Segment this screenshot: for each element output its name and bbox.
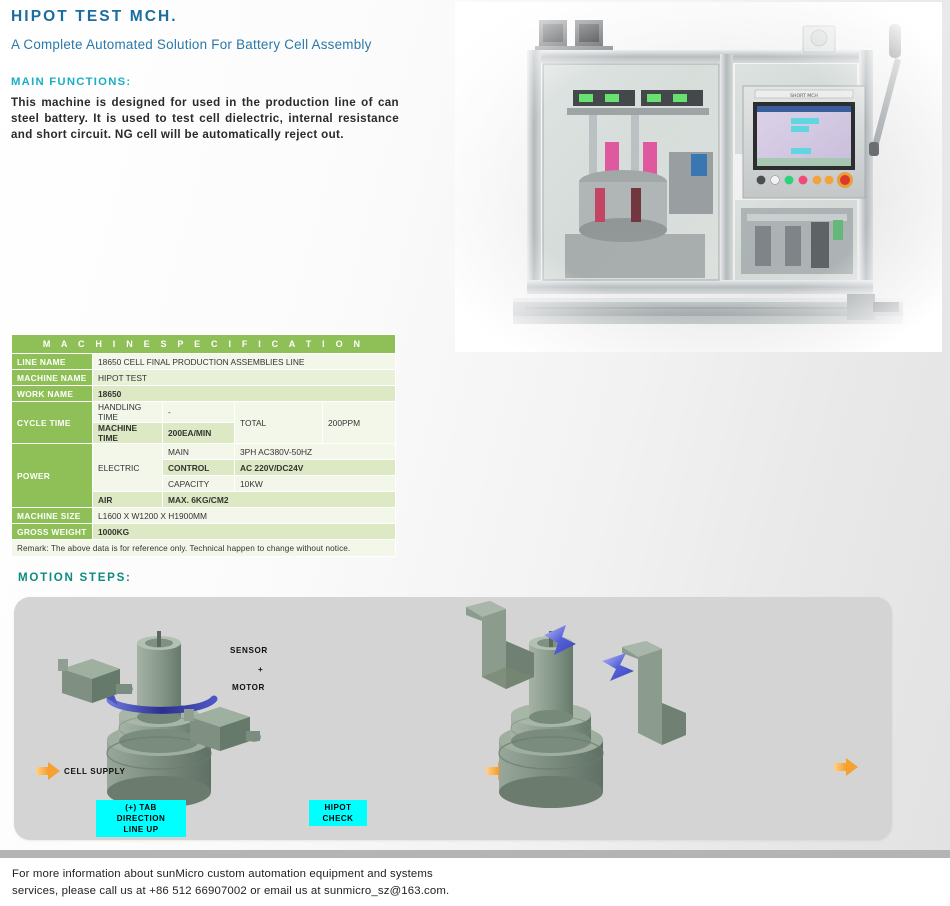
cell-work-name-label: WORK NAME xyxy=(12,386,93,402)
table-row-header: M A C H I N E S P E C I F I C A T I O N xyxy=(12,335,396,354)
step-box-hipot-check-line2: CHECK xyxy=(323,814,354,823)
motion-steps-heading: MOTION STEPS: xyxy=(18,571,132,584)
cell-air-value: MAX. 6KG/CM2 xyxy=(163,492,396,508)
table-row-main: POWER ELECTRIC MAIN 3PH AC380V-50HZ xyxy=(12,444,396,460)
sensor-block-left xyxy=(58,659,133,703)
cell-machine-time-label: MACHINE TIME xyxy=(93,423,163,444)
main-functions-text: This machine is designed for used in the… xyxy=(11,95,399,144)
cell-main-label: MAIN xyxy=(163,444,235,460)
step-box-tab-direction: (+) TAB DIRECTION LINE UP xyxy=(96,800,186,837)
cell-gross-weight-value: 1000KG xyxy=(93,524,396,540)
probe-motion-arrow-lower xyxy=(602,653,634,681)
cell-control-value: AC 220V/DC24V xyxy=(235,460,396,476)
left-column: HIPOT TEST MCH. A Complete Automated Sol… xyxy=(11,0,426,144)
machine-photo: SHORT MCH xyxy=(455,2,942,352)
arrow-icon-step-2-out xyxy=(834,758,858,776)
cell-total-value: 200PPM xyxy=(323,402,396,444)
table-row-gross-weight: GROSS WEIGHT 1000KG xyxy=(12,524,396,540)
spec-title: M A C H I N E S P E C I F I C A T I O N xyxy=(12,335,396,354)
motion-steps-panel: SENSOR + MOTOR CELL SUPPLY (+) TAB DIREC… xyxy=(14,597,892,840)
cell-capacity-value: 10KW xyxy=(235,476,396,492)
hipot-probe-lower xyxy=(622,641,686,745)
machine-photo-illustration: SHORT MCH xyxy=(455,2,942,352)
cell-handling-time-label: HANDLING TIME xyxy=(93,402,163,423)
cell-handling-time-value: - xyxy=(163,402,235,423)
label-plus: + xyxy=(258,665,263,674)
machine-specification-table: M A C H I N E S P E C I F I C A T I O N … xyxy=(11,334,396,557)
cell-machine-size-label: MACHINE SIZE xyxy=(12,508,93,524)
cell-cycle-time-label: CYCLE TIME xyxy=(12,402,93,444)
hipot-probe-upper xyxy=(466,601,534,689)
main-functions-heading: MAIN FUNCTIONS: xyxy=(11,76,426,88)
cell-machine-size-value: L1600 X W1200 X H1900MM xyxy=(93,508,396,524)
label-cell-supply: CELL SUPPLY xyxy=(64,767,125,776)
footer-divider xyxy=(0,850,950,858)
cell-gross-weight-label: GROSS WEIGHT xyxy=(12,524,93,540)
table-row-machine-name: MACHINE NAME HIPOT TEST xyxy=(12,370,396,386)
cell-control-label: CONTROL xyxy=(163,460,235,476)
cell-line-name-label: LINE NAME xyxy=(12,354,93,370)
cell-total-label: TOTAL xyxy=(235,402,323,444)
page-subtitle: A Complete Automated Solution For Batter… xyxy=(11,36,426,54)
label-sensor: SENSOR xyxy=(230,646,268,655)
table-row-remark: Remark: The above data is for reference … xyxy=(12,540,396,557)
cell-electric-label: ELECTRIC xyxy=(93,444,163,492)
footer-line-2: services, please call us at +86 512 6690… xyxy=(12,883,632,900)
spec-remark: Remark: The above data is for reference … xyxy=(12,540,396,557)
cell-machine-time-value: 200EA/MIN xyxy=(163,423,235,444)
table-row-handling-time: CYCLE TIME HANDLING TIME - TOTAL 200PPM xyxy=(12,402,396,423)
cell-machine-name-value: HIPOT TEST xyxy=(93,370,396,386)
cell-main-value: 3PH AC380V-50HZ xyxy=(235,444,396,460)
step-box-hipot-check: HIPOT CHECK xyxy=(309,800,367,826)
step-box-hipot-check-line1: HIPOT xyxy=(325,803,352,812)
footer-line-1: For more information about sunMicro cust… xyxy=(12,866,632,883)
page-title: HIPOT TEST MCH. xyxy=(11,7,426,27)
cell-line-name-value: 18650 CELL FINAL PRODUCTION ASSEMBLIES L… xyxy=(93,354,396,370)
step-box-tab-direction-line2: LINE UP xyxy=(123,825,158,834)
arrow-icon-cell-supply xyxy=(36,762,60,780)
cell-capacity-label: CAPACITY xyxy=(163,476,235,492)
cell-power-label: POWER xyxy=(12,444,93,508)
cell-work-name-value: 18650 xyxy=(93,386,396,402)
table-row-line-name: LINE NAME 18650 CELL FINAL PRODUCTION AS… xyxy=(12,354,396,370)
step-box-tab-direction-line1: (+) TAB DIRECTION xyxy=(117,803,166,823)
table-row-machine-size: MACHINE SIZE L1600 X W1200 X H1900MM xyxy=(12,508,396,524)
cell-machine-name-label: MACHINE NAME xyxy=(12,370,93,386)
footer-contact: For more information about sunMicro cust… xyxy=(12,866,632,899)
label-motor: MOTOR xyxy=(232,683,265,692)
table-row-work-name: WORK NAME 18650 xyxy=(12,386,396,402)
cell-air-label: AIR xyxy=(93,492,163,508)
